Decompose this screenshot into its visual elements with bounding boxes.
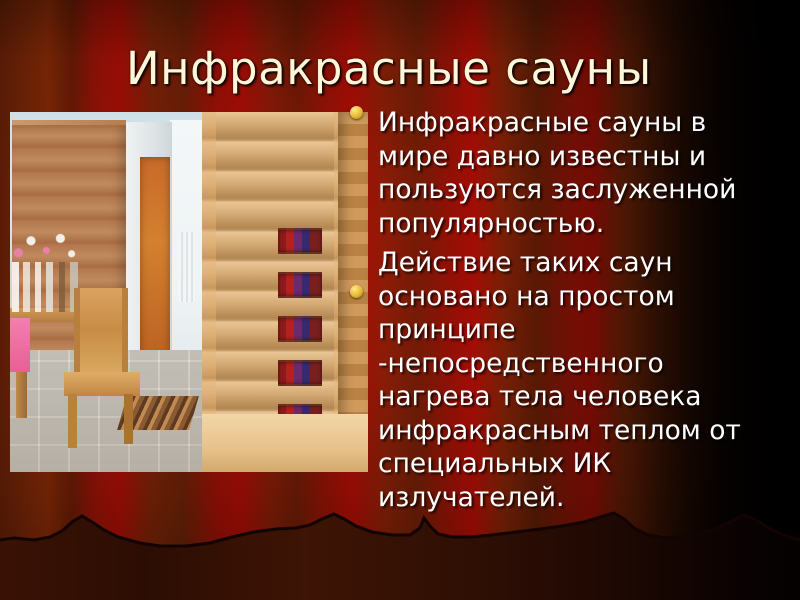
chair-leg-front	[68, 394, 77, 448]
ir-emitter-slot	[278, 272, 322, 298]
slide-body: Инфракрасные сауны в мире давно известны…	[378, 106, 770, 520]
ir-emitter-slot	[278, 228, 322, 254]
open-door-gap	[140, 157, 170, 369]
bullet-dot-icon	[350, 285, 363, 298]
body-paragraph-2: Действие таких саун основано на простом …	[378, 246, 770, 514]
body-paragraph-1: Инфракрасные сауны в мире давно известны…	[378, 106, 770, 240]
chair-back	[74, 288, 128, 374]
presentation-slide: Инфракрасные сауны	[0, 0, 800, 600]
sauna-photo	[10, 112, 368, 472]
radiator	[178, 232, 195, 302]
photo-left-scene	[10, 112, 202, 472]
sauna-bench	[202, 414, 368, 472]
chair-seat	[64, 372, 140, 396]
chair-leg-back	[124, 394, 133, 444]
slide-title: Инфракрасные сауны	[126, 42, 746, 96]
bullet-dot-icon	[350, 106, 363, 119]
photo-right-scene	[202, 112, 368, 472]
ir-emitter-slot	[278, 316, 322, 342]
pink-cloth	[10, 318, 30, 372]
ir-emitter-slot	[278, 360, 322, 386]
wooden-chair	[62, 288, 138, 446]
